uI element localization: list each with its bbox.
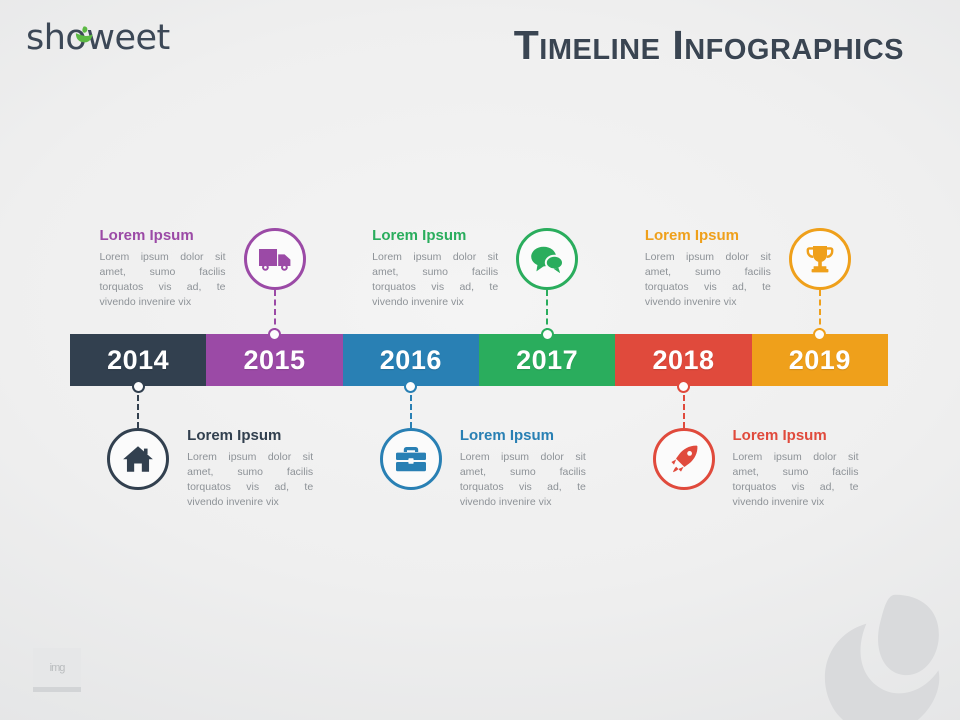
- entry-heading: Lorem Ipsum: [645, 228, 771, 245]
- logo-wordmark: showeet: [26, 21, 170, 56]
- timeline-segment-2014[interactable]: 2014: [70, 334, 206, 386]
- timeline-node-dot-2018[interactable]: [677, 380, 690, 393]
- entry-heading: Lorem Ipsum: [460, 428, 586, 445]
- timeline-node-dot-2019[interactable]: [813, 328, 826, 341]
- trophy-icon-circle[interactable]: [789, 228, 851, 290]
- timeline-segment-2016[interactable]: 2016: [343, 334, 479, 386]
- home-icon: [121, 442, 155, 476]
- entry-text-2018: Lorem IpsumLorem ipsum dolor sit amet, s…: [733, 428, 859, 510]
- entry-heading: Lorem Ipsum: [100, 228, 226, 245]
- entry-body: Lorem ipsum dolor sit amet, sumo facilis…: [733, 450, 859, 510]
- entry-heading: Lorem Ipsum: [187, 428, 313, 445]
- slide-canvas: showeet Timeline Infographics 2014201520…: [0, 0, 960, 720]
- entry-2015[interactable]: Lorem IpsumLorem ipsum dolor sit amet, s…: [100, 218, 306, 310]
- briefcase-icon: [394, 444, 428, 474]
- segment-year-label: 2019: [789, 347, 851, 374]
- entry-body: Lorem ipsum dolor sit amet, sumo facilis…: [460, 450, 586, 510]
- placeholder-glyph: img: [50, 662, 65, 674]
- showeet-logo: showeet: [26, 16, 170, 60]
- segment-year-label: 2017: [516, 347, 578, 374]
- entry-body: Lorem ipsum dolor sit amet, sumo facilis…: [645, 250, 771, 310]
- entry-body: Lorem ipsum dolor sit amet, sumo facilis…: [187, 450, 313, 510]
- entry-text-2015: Lorem IpsumLorem ipsum dolor sit amet, s…: [100, 228, 226, 310]
- image-placeholder: img: [33, 648, 81, 692]
- segment-year-label: 2018: [652, 347, 714, 374]
- timeline-segment-2018[interactable]: 2018: [615, 334, 751, 386]
- entry-2018[interactable]: Lorem IpsumLorem ipsum dolor sit amet, s…: [653, 418, 859, 510]
- briefcase-icon-circle[interactable]: [380, 428, 442, 490]
- timeline-segment-2017[interactable]: 2017: [479, 334, 615, 386]
- rocket-icon: [668, 443, 700, 475]
- entry-heading: Lorem Ipsum: [733, 428, 859, 445]
- entry-text-2016: Lorem IpsumLorem ipsum dolor sit amet, s…: [460, 428, 586, 510]
- trophy-icon: [804, 243, 836, 275]
- timeline-bar: 201420152016201720182019: [70, 334, 888, 386]
- chat-icon-circle[interactable]: [516, 228, 578, 290]
- entry-2016[interactable]: Lorem IpsumLorem ipsum dolor sit amet, s…: [380, 418, 586, 510]
- segment-year-label: 2015: [243, 347, 305, 374]
- entry-heading: Lorem Ipsum: [372, 228, 498, 245]
- timeline-node-dot-2014[interactable]: [132, 380, 145, 393]
- entry-2014[interactable]: Lorem IpsumLorem ipsum dolor sit amet, s…: [107, 418, 313, 510]
- home-icon-circle[interactable]: [107, 428, 169, 490]
- truck-icon: [257, 244, 293, 274]
- timeline-segment-2019[interactable]: 2019: [752, 334, 888, 386]
- rocket-icon-circle[interactable]: [653, 428, 715, 490]
- showeet-watermark-icon: [798, 566, 960, 720]
- segment-year-label: 2016: [380, 347, 442, 374]
- segment-year-label: 2014: [107, 347, 169, 374]
- entry-body: Lorem ipsum dolor sit amet, sumo facilis…: [100, 250, 226, 310]
- entry-2019[interactable]: Lorem IpsumLorem ipsum dolor sit amet, s…: [645, 218, 851, 310]
- entry-text-2019: Lorem IpsumLorem ipsum dolor sit amet, s…: [645, 228, 771, 310]
- truck-icon-circle[interactable]: [244, 228, 306, 290]
- chat-icon: [529, 243, 565, 275]
- entry-2017[interactable]: Lorem IpsumLorem ipsum dolor sit amet, s…: [372, 218, 578, 310]
- entry-body: Lorem ipsum dolor sit amet, sumo facilis…: [372, 250, 498, 310]
- entry-text-2017: Lorem IpsumLorem ipsum dolor sit amet, s…: [372, 228, 498, 310]
- page-title: Timeline Infographics: [514, 22, 904, 69]
- timeline-node-dot-2017[interactable]: [541, 328, 554, 341]
- timeline-segment-2015[interactable]: 2015: [206, 334, 342, 386]
- timeline-node-dot-2015[interactable]: [268, 328, 281, 341]
- leaf-mark-icon: [73, 25, 95, 47]
- entry-text-2014: Lorem IpsumLorem ipsum dolor sit amet, s…: [187, 428, 313, 510]
- timeline-node-dot-2016[interactable]: [404, 380, 417, 393]
